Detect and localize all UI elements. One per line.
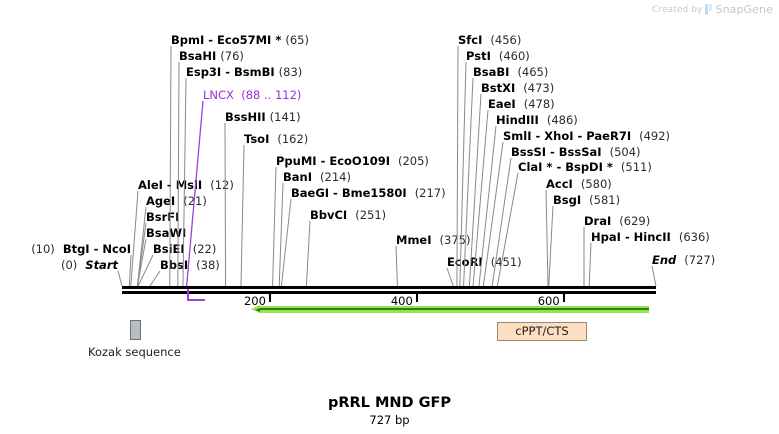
leader-line-tsoi <box>241 145 244 286</box>
feature-label-kozak: Kozak sequence <box>88 345 181 359</box>
enzyme-label-tsoi[interactable]: TsoI (162) <box>244 133 308 145</box>
enzyme-label-esp3i-bsmbi[interactable]: Esp3I - BsmBI (83) <box>186 66 302 78</box>
watermark-prefix: Created by <box>652 5 703 15</box>
cppt-cts-arrowhead-core-icon <box>255 308 260 312</box>
enzyme-label-bsabi[interactable]: BsaBI (465) <box>473 66 548 78</box>
enzyme-label-sfci[interactable]: SfcI (456) <box>458 34 521 46</box>
enzyme-label-btgi-ncoi[interactable]: (10) BtgI - NcoI <box>0 243 131 255</box>
enzyme-label-bani[interactable]: BanI (214) <box>283 171 351 183</box>
enzyme-label-bsawi[interactable]: BsaWI <box>146 227 186 239</box>
enzyme-label-drai[interactable]: DraI (629) <box>584 215 650 227</box>
enzyme-label-hpai-hincii[interactable]: HpaI - HincII (636) <box>591 231 710 243</box>
enzyme-label-bstxi[interactable]: BstXI (473) <box>481 82 554 94</box>
enzyme-label-acci[interactable]: AccI (580) <box>546 178 612 190</box>
enzyme-label-eaei[interactable]: EaeI (478) <box>488 98 555 110</box>
leader-line-acci <box>546 190 548 286</box>
enzyme-label-ppumi-ecoo109i[interactable]: PpuMI - EcoO109I (205) <box>276 155 429 167</box>
leader-line-ppumi-ecoo109i <box>273 167 276 286</box>
leader-line-bsgi <box>549 206 553 286</box>
enzyme-label-alei-msli[interactable]: AleI - MslI (12) <box>138 179 234 191</box>
enzyme-label-mmei[interactable]: MmeI (375) <box>396 234 470 246</box>
leader-line-bsrfi <box>137 223 146 286</box>
leader-line-bsshii <box>225 123 226 286</box>
marker-label-end[interactable]: End (727) <box>652 254 715 266</box>
ruler-tick-600 <box>563 294 565 302</box>
leader-line-hpai-hincii <box>589 243 591 286</box>
feature-label-lncx[interactable]: LNCX (88 .. 112) <box>203 89 301 101</box>
leader-line-sfci <box>457 46 458 286</box>
watermark-brand: SnapGene <box>715 3 773 16</box>
enzyme-label-bsiei[interactable]: BsiEI (22) <box>153 243 216 255</box>
enzyme-label-smli-xhoi-paer7i[interactable]: SmlI - XhoI - PaeR7I (492) <box>503 130 670 142</box>
snapgene-watermark: Created by SnapGene <box>652 3 773 16</box>
snapgene-logo-icon <box>705 4 712 15</box>
enzyme-label-bbsi[interactable]: BbsI (38) <box>160 259 220 271</box>
feature-label-cppt-cts[interactable]: cPPT/CTS <box>497 322 587 341</box>
enzyme-label-bsrfi[interactable]: BsrFI <box>146 211 179 223</box>
cppt-cts-text: cPPT/CTS <box>515 324 568 338</box>
enzyme-label-clai-bspdi[interactable]: ClaI * - BspDI * (511) <box>518 161 652 173</box>
enzyme-label-bbvci[interactable]: BbvCI (251) <box>310 209 386 221</box>
page-title: pRRL MND GFP <box>0 395 779 411</box>
leader-line-bsawi <box>137 239 146 286</box>
leader-line-clai-bspdi <box>497 173 518 286</box>
plasmid-length: 727 bp <box>0 413 779 427</box>
enzyme-label-bsgi[interactable]: BsgI (581) <box>553 194 620 206</box>
enzyme-label-bpmi-eco57mi[interactable]: BpmI - Eco57MI * (65) <box>171 34 309 46</box>
marker-label-start[interactable]: (0) Start <box>0 259 118 271</box>
enzyme-label-bsshii[interactable]: BssHII (141) <box>225 111 301 123</box>
enzyme-label-baegi-bme1580i[interactable]: BaeGI - Bme1580I (217) <box>291 187 446 199</box>
cppt-cts-arrow-bar[interactable] <box>259 306 649 313</box>
enzyme-label-ecori[interactable]: EcoRI (451) <box>447 256 522 268</box>
leader-line-agei <box>137 207 146 286</box>
leader-line-end <box>652 266 656 286</box>
enzyme-label-agei[interactable]: AgeI (21) <box>146 195 207 207</box>
leader-line-btgi-ncoi <box>129 255 131 286</box>
leader-lines <box>0 0 779 434</box>
leader-line-bsiei <box>138 255 153 286</box>
lncx-bracket <box>187 289 205 301</box>
leader-line-bbvci <box>306 221 310 286</box>
enzyme-label-hindiii[interactable]: HindIII (486) <box>496 114 578 126</box>
leader-line-alei-msli <box>131 191 138 286</box>
ruler-tick-200 <box>269 294 271 302</box>
leader-line-bani <box>279 183 283 286</box>
enzyme-label-bsssi-bsssai[interactable]: BssSI - BssSaI (504) <box>511 146 641 158</box>
enzyme-label-bsahi[interactable]: BsaHI (76) <box>179 50 244 62</box>
ruler-tick-400 <box>416 294 418 302</box>
enzyme-label-psti[interactable]: PstI (460) <box>466 50 530 62</box>
feature-box-kozak[interactable] <box>130 320 141 340</box>
leader-line-baegi-bme1580i <box>281 199 291 286</box>
leader-line-psti <box>460 62 466 286</box>
leader-line-bbsi <box>150 271 160 286</box>
leader-line-ecori <box>447 268 453 286</box>
leader-line-mmei <box>396 246 397 286</box>
plasmid-map-canvas: Created by SnapGene BpmI - Eco57MI * (65… <box>0 0 779 434</box>
leader-line-start <box>118 271 122 286</box>
